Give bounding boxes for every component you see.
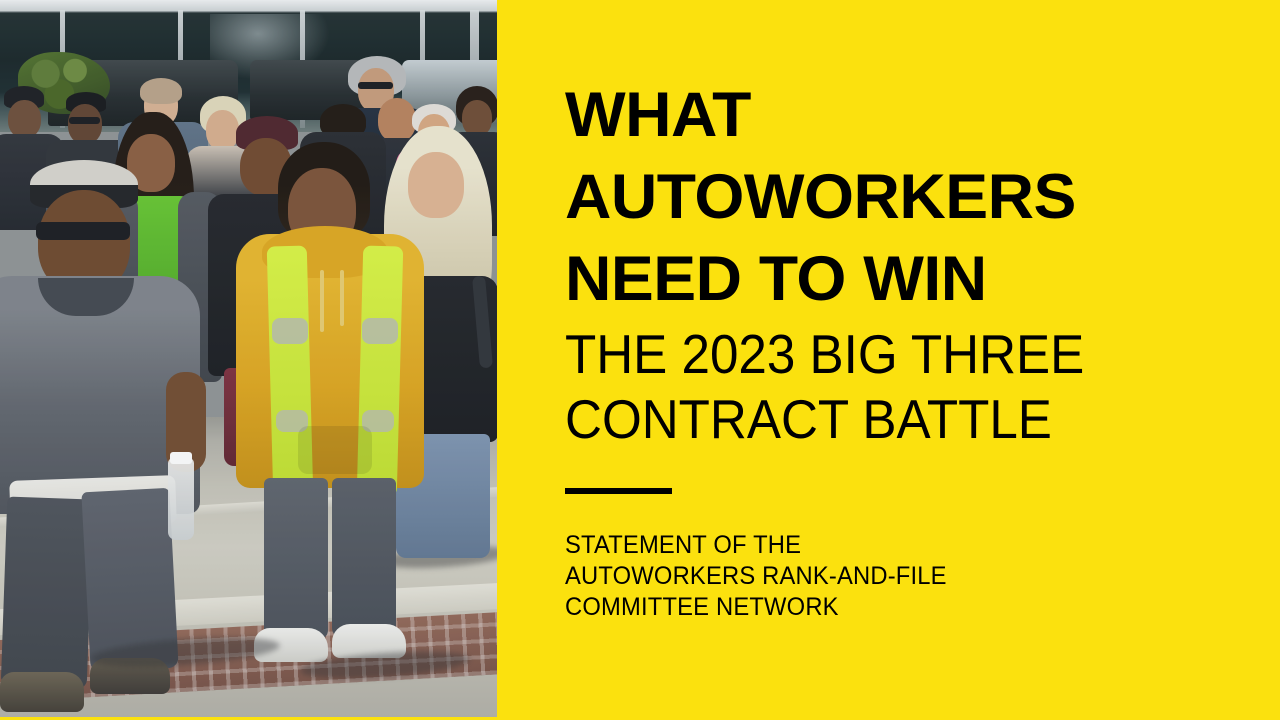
protest-photo — [0, 0, 497, 717]
photo-stage — [0, 0, 497, 717]
page-title: WHAT AUTOWORKERS NEED TO WIN — [565, 74, 1279, 320]
headline-line-3: NEED TO WIN — [565, 238, 1279, 320]
subhead-line-2: CONTRACT BATTLE — [565, 387, 1216, 452]
headline-line-1: WHAT — [565, 74, 1279, 156]
subhead-line-1: THE 2023 BIG THREE — [565, 322, 1216, 387]
headline-line-2: AUTOWORKERS — [565, 156, 1279, 238]
divider-rule — [565, 488, 672, 494]
byline-line-2: AUTOWORKERS RANK-AND-FILE — [565, 561, 1230, 592]
byline-line-3: COMMITTEE NETWORK — [565, 592, 1230, 623]
text-panel: WHAT AUTOWORKERS NEED TO WIN THE 2023 BI… — [497, 0, 1280, 720]
byline: STATEMENT OF THE AUTOWORKERS RANK-AND-FI… — [565, 530, 1230, 623]
byline-line-1: STATEMENT OF THE — [565, 530, 1230, 561]
poster-canvas: WHAT AUTOWORKERS NEED TO WIN THE 2023 BI… — [0, 0, 1280, 720]
photo-haze-overlay — [0, 0, 497, 717]
page-subtitle: THE 2023 BIG THREE CONTRACT BATTLE — [565, 322, 1216, 452]
